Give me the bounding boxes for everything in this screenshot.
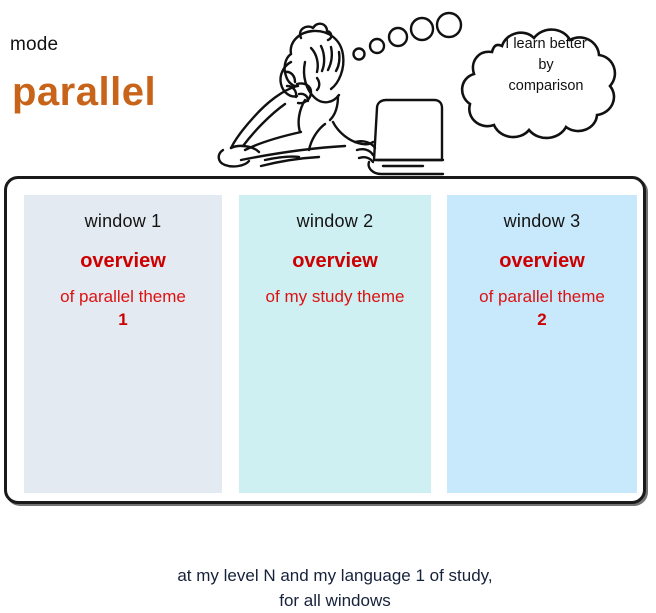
bubble-line-2: by: [460, 55, 632, 76]
window-3-heading: overview: [447, 250, 637, 273]
window-2-subtitle: of my study theme: [239, 285, 431, 308]
caption-line-2: for all windows: [31, 588, 639, 613]
window-2-heading: overview: [239, 250, 431, 273]
bubble-line-1: I learn better: [460, 34, 632, 55]
bubble-line-3: comparison: [460, 76, 632, 97]
window-3-subtitle: of parallel theme 2: [447, 285, 637, 331]
mode-label: mode: [10, 34, 58, 56]
mode-name: parallel: [12, 70, 156, 115]
windows-caption: at my level N and my language 1 of study…: [31, 563, 639, 613]
window-3-number: 2: [451, 308, 633, 331]
window-panel-2[interactable]: window 2 overview of my study theme: [239, 195, 431, 493]
slide-root: mode parallel: [0, 0, 656, 514]
windows-container: window 1 overview of parallel theme 1 wi…: [4, 176, 646, 504]
window-panel-3[interactable]: window 3 overview of parallel theme 2: [447, 195, 637, 493]
window-3-title: window 3: [447, 211, 637, 232]
window-3-subtitle-text: of parallel theme: [479, 287, 605, 306]
window-1-heading: overview: [24, 250, 222, 273]
window-1-number: 1: [28, 308, 218, 331]
thought-bubble-text: I learn better by comparison: [460, 34, 632, 97]
window-2-subtitle-text: of my study theme: [266, 287, 405, 306]
window-1-subtitle: of parallel theme 1: [24, 285, 222, 331]
caption-line-1: at my level N and my language 1 of study…: [31, 563, 639, 588]
window-2-title: window 2: [239, 211, 431, 232]
window-1-title: window 1: [24, 211, 222, 232]
window-panel-1[interactable]: window 1 overview of parallel theme 1: [24, 195, 222, 493]
window-1-subtitle-text: of parallel theme: [60, 287, 186, 306]
